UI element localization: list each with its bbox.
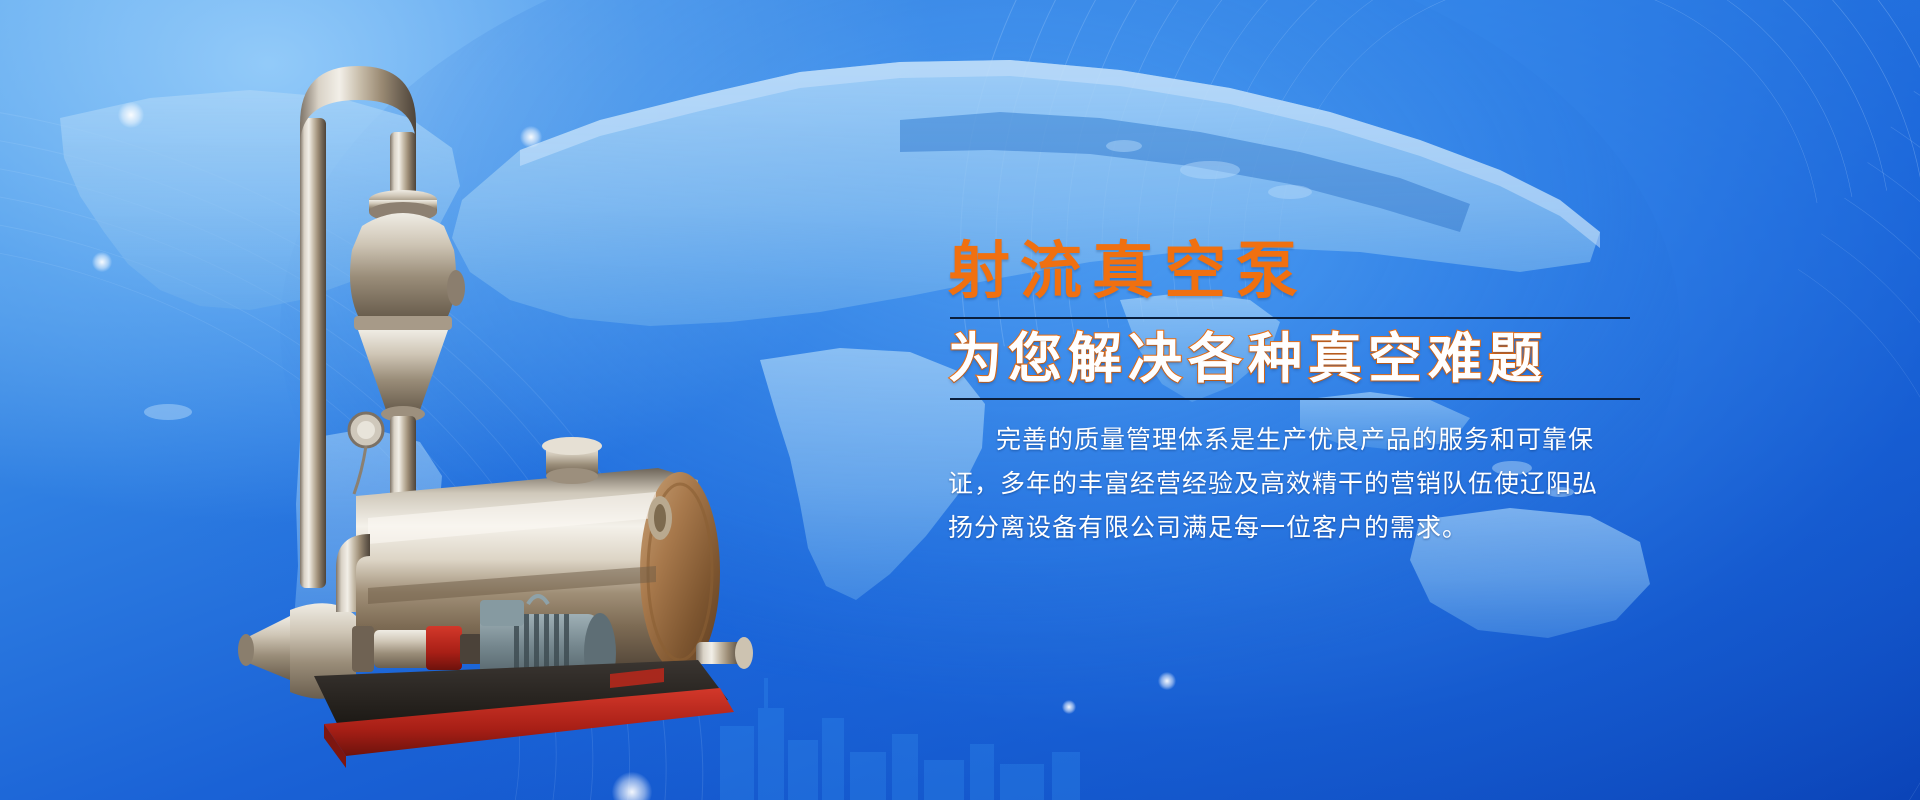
product-photo-jet-vacuum-pump — [228, 48, 788, 788]
page-subtitle: 为您解决各种真空难题 — [948, 329, 1668, 388]
description-paragraph: 完善的质量管理体系是生产优良产品的服务和可靠保 证，多年的丰富经营经验及高效精干… — [948, 418, 1648, 550]
bokeh-dot — [92, 252, 112, 272]
paragraph-line: 扬分离设备有限公司满足每一位客户的需求。 — [948, 506, 1648, 550]
page-title: 射流真空泵 — [948, 238, 1668, 303]
divider-top — [950, 317, 1630, 319]
bokeh-dot — [1158, 672, 1176, 690]
bokeh-dot — [118, 102, 144, 128]
paragraph-line: 完善的质量管理体系是生产优良产品的服务和可靠保 — [948, 418, 1648, 462]
divider-bottom — [950, 398, 1640, 400]
banner-copy: 射流真空泵 为您解决各种真空难题 完善的质量管理体系是生产优良产品的服务和可靠保… — [948, 238, 1668, 550]
hero-banner: 射流真空泵 为您解决各种真空难题 完善的质量管理体系是生产优良产品的服务和可靠保… — [0, 0, 1920, 800]
paragraph-line: 证，多年的丰富经营经验及高效精干的营销队伍使辽阳弘 — [948, 462, 1648, 506]
